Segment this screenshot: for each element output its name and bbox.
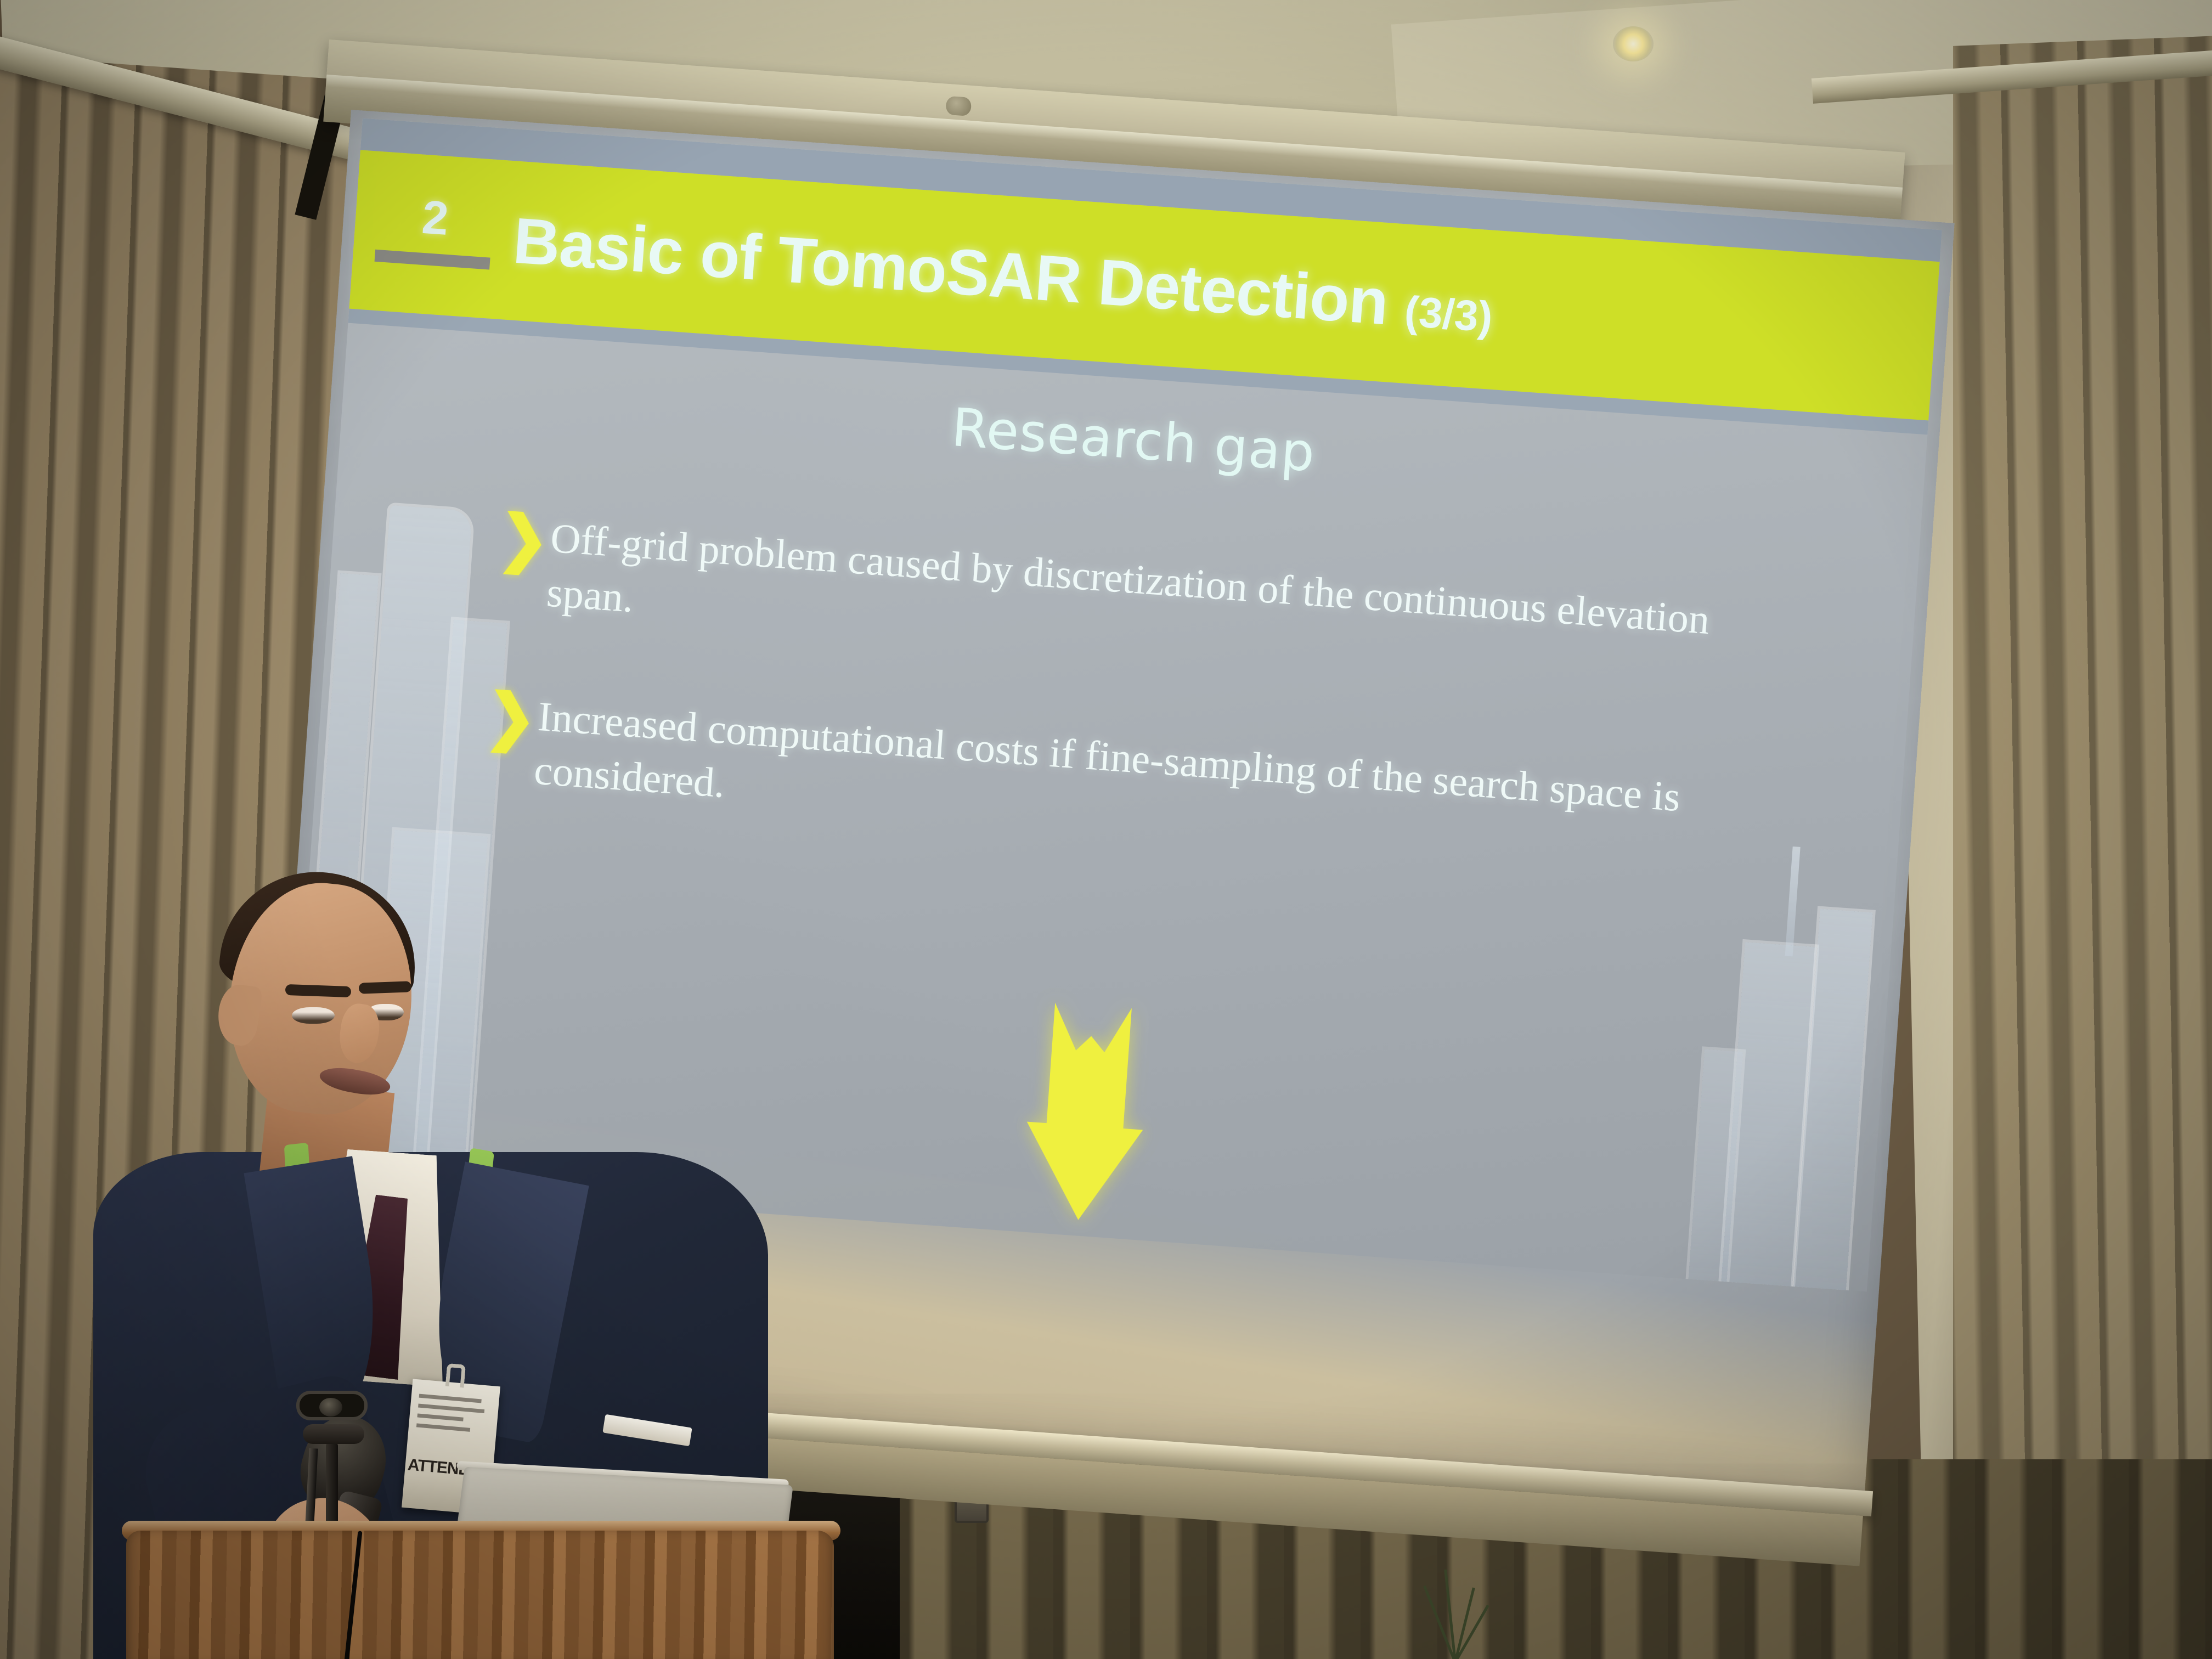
badge-detail-line — [418, 1404, 485, 1414]
slide-title-fraction: (3/3) — [1403, 287, 1494, 341]
bullet-text: Increased computational costs if fine-sa… — [532, 690, 1757, 884]
slide-number-block: 2 — [349, 150, 519, 320]
down-arrow-icon — [1018, 999, 1154, 1227]
list-item: ❯ Increased computational costs if fine-… — [480, 686, 1757, 884]
slide-title: Basic of TomoSAR Detection (3/3) — [511, 204, 1496, 347]
down-arrow-graphic — [1018, 999, 1154, 1227]
eye — [292, 1007, 335, 1024]
webcam-lens-icon — [319, 1398, 342, 1417]
decorative-plant — [1383, 1569, 1525, 1659]
list-item: ❯ Off-grid problem caused by discretizat… — [493, 507, 1770, 706]
badge-detail-line — [416, 1423, 470, 1431]
conference-room-photo: 2 Basic of TomoSAR Detection (3/3) Resea… — [0, 0, 2212, 1659]
slide-title-main: Basic of TomoSAR Detection — [511, 205, 1390, 339]
downlight-icon — [1613, 26, 1654, 61]
badge-clip — [445, 1363, 466, 1388]
slide-number-rule — [375, 250, 490, 270]
plant-frond — [1444, 1570, 1457, 1659]
eyebrow — [359, 981, 412, 994]
badge-detail-line — [419, 1394, 482, 1403]
podium — [126, 1531, 834, 1659]
chevron-right-icon: ❯ — [480, 686, 540, 798]
bullet-text: Off-grid problem caused by discretizatio… — [545, 511, 1769, 706]
chevron-right-icon: ❯ — [493, 507, 553, 619]
webcam-base — [303, 1424, 364, 1444]
eyebrow — [285, 984, 352, 997]
badge-detail-line — [417, 1413, 464, 1421]
curtain-right — [1953, 33, 2212, 1659]
building-spire-graphic — [1785, 847, 1801, 956]
slide-number: 2 — [421, 194, 450, 242]
housing-mount-knob — [945, 96, 972, 116]
